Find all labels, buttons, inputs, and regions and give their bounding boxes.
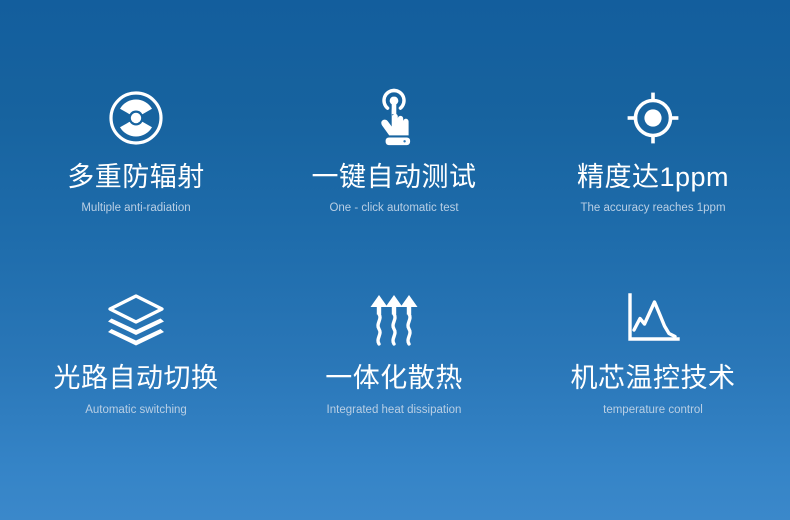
feature-item-anti-radiation[interactable]: 多重防辐射 Multiple anti-radiation: [0, 0, 272, 216]
feature-item-temperature-control[interactable]: 机芯温控技术 temperature control: [516, 262, 790, 418]
line-chart-icon: [623, 289, 683, 349]
feature-item-one-click-test[interactable]: 一键自动测试 One - click automatic test: [272, 0, 516, 216]
feature-subtitle: The accuracy reaches 1ppm: [580, 202, 725, 216]
feature-item-accuracy[interactable]: 精度达1ppm The accuracy reaches 1ppm: [516, 0, 790, 216]
layers-icon: [106, 289, 166, 349]
feature-item-heat-dissipation[interactable]: 一体化散热 Integrated heat dissipation: [272, 262, 516, 418]
feature-subtitle: One - click automatic test: [329, 202, 458, 216]
feature-title: 一键自动测试: [312, 162, 477, 193]
feature-item-optical-switching[interactable]: 光路自动切换 Automatic switching: [0, 262, 272, 418]
feature-title: 多重防辐射: [67, 162, 205, 193]
feature-subtitle: Integrated heat dissipation: [327, 404, 462, 418]
feature-title: 光路自动切换: [54, 363, 219, 394]
feature-subtitle: Multiple anti-radiation: [81, 202, 190, 216]
radiation-icon: [106, 88, 166, 148]
feature-title: 一体化散热: [325, 363, 463, 394]
crosshair-target-icon: [623, 88, 683, 148]
feature-title: 精度达1ppm: [577, 162, 729, 193]
feature-title: 机芯温控技术: [571, 363, 736, 394]
tap-hand-icon: [364, 88, 424, 148]
feature-grid: 多重防辐射 Multiple anti-radiation 一键自动测试 One…: [0, 0, 790, 520]
heat-waves-icon: [364, 289, 424, 349]
feature-panel: 多重防辐射 Multiple anti-radiation 一键自动测试 One…: [0, 0, 790, 520]
feature-subtitle: Automatic switching: [85, 404, 187, 418]
feature-subtitle: temperature control: [603, 404, 703, 418]
